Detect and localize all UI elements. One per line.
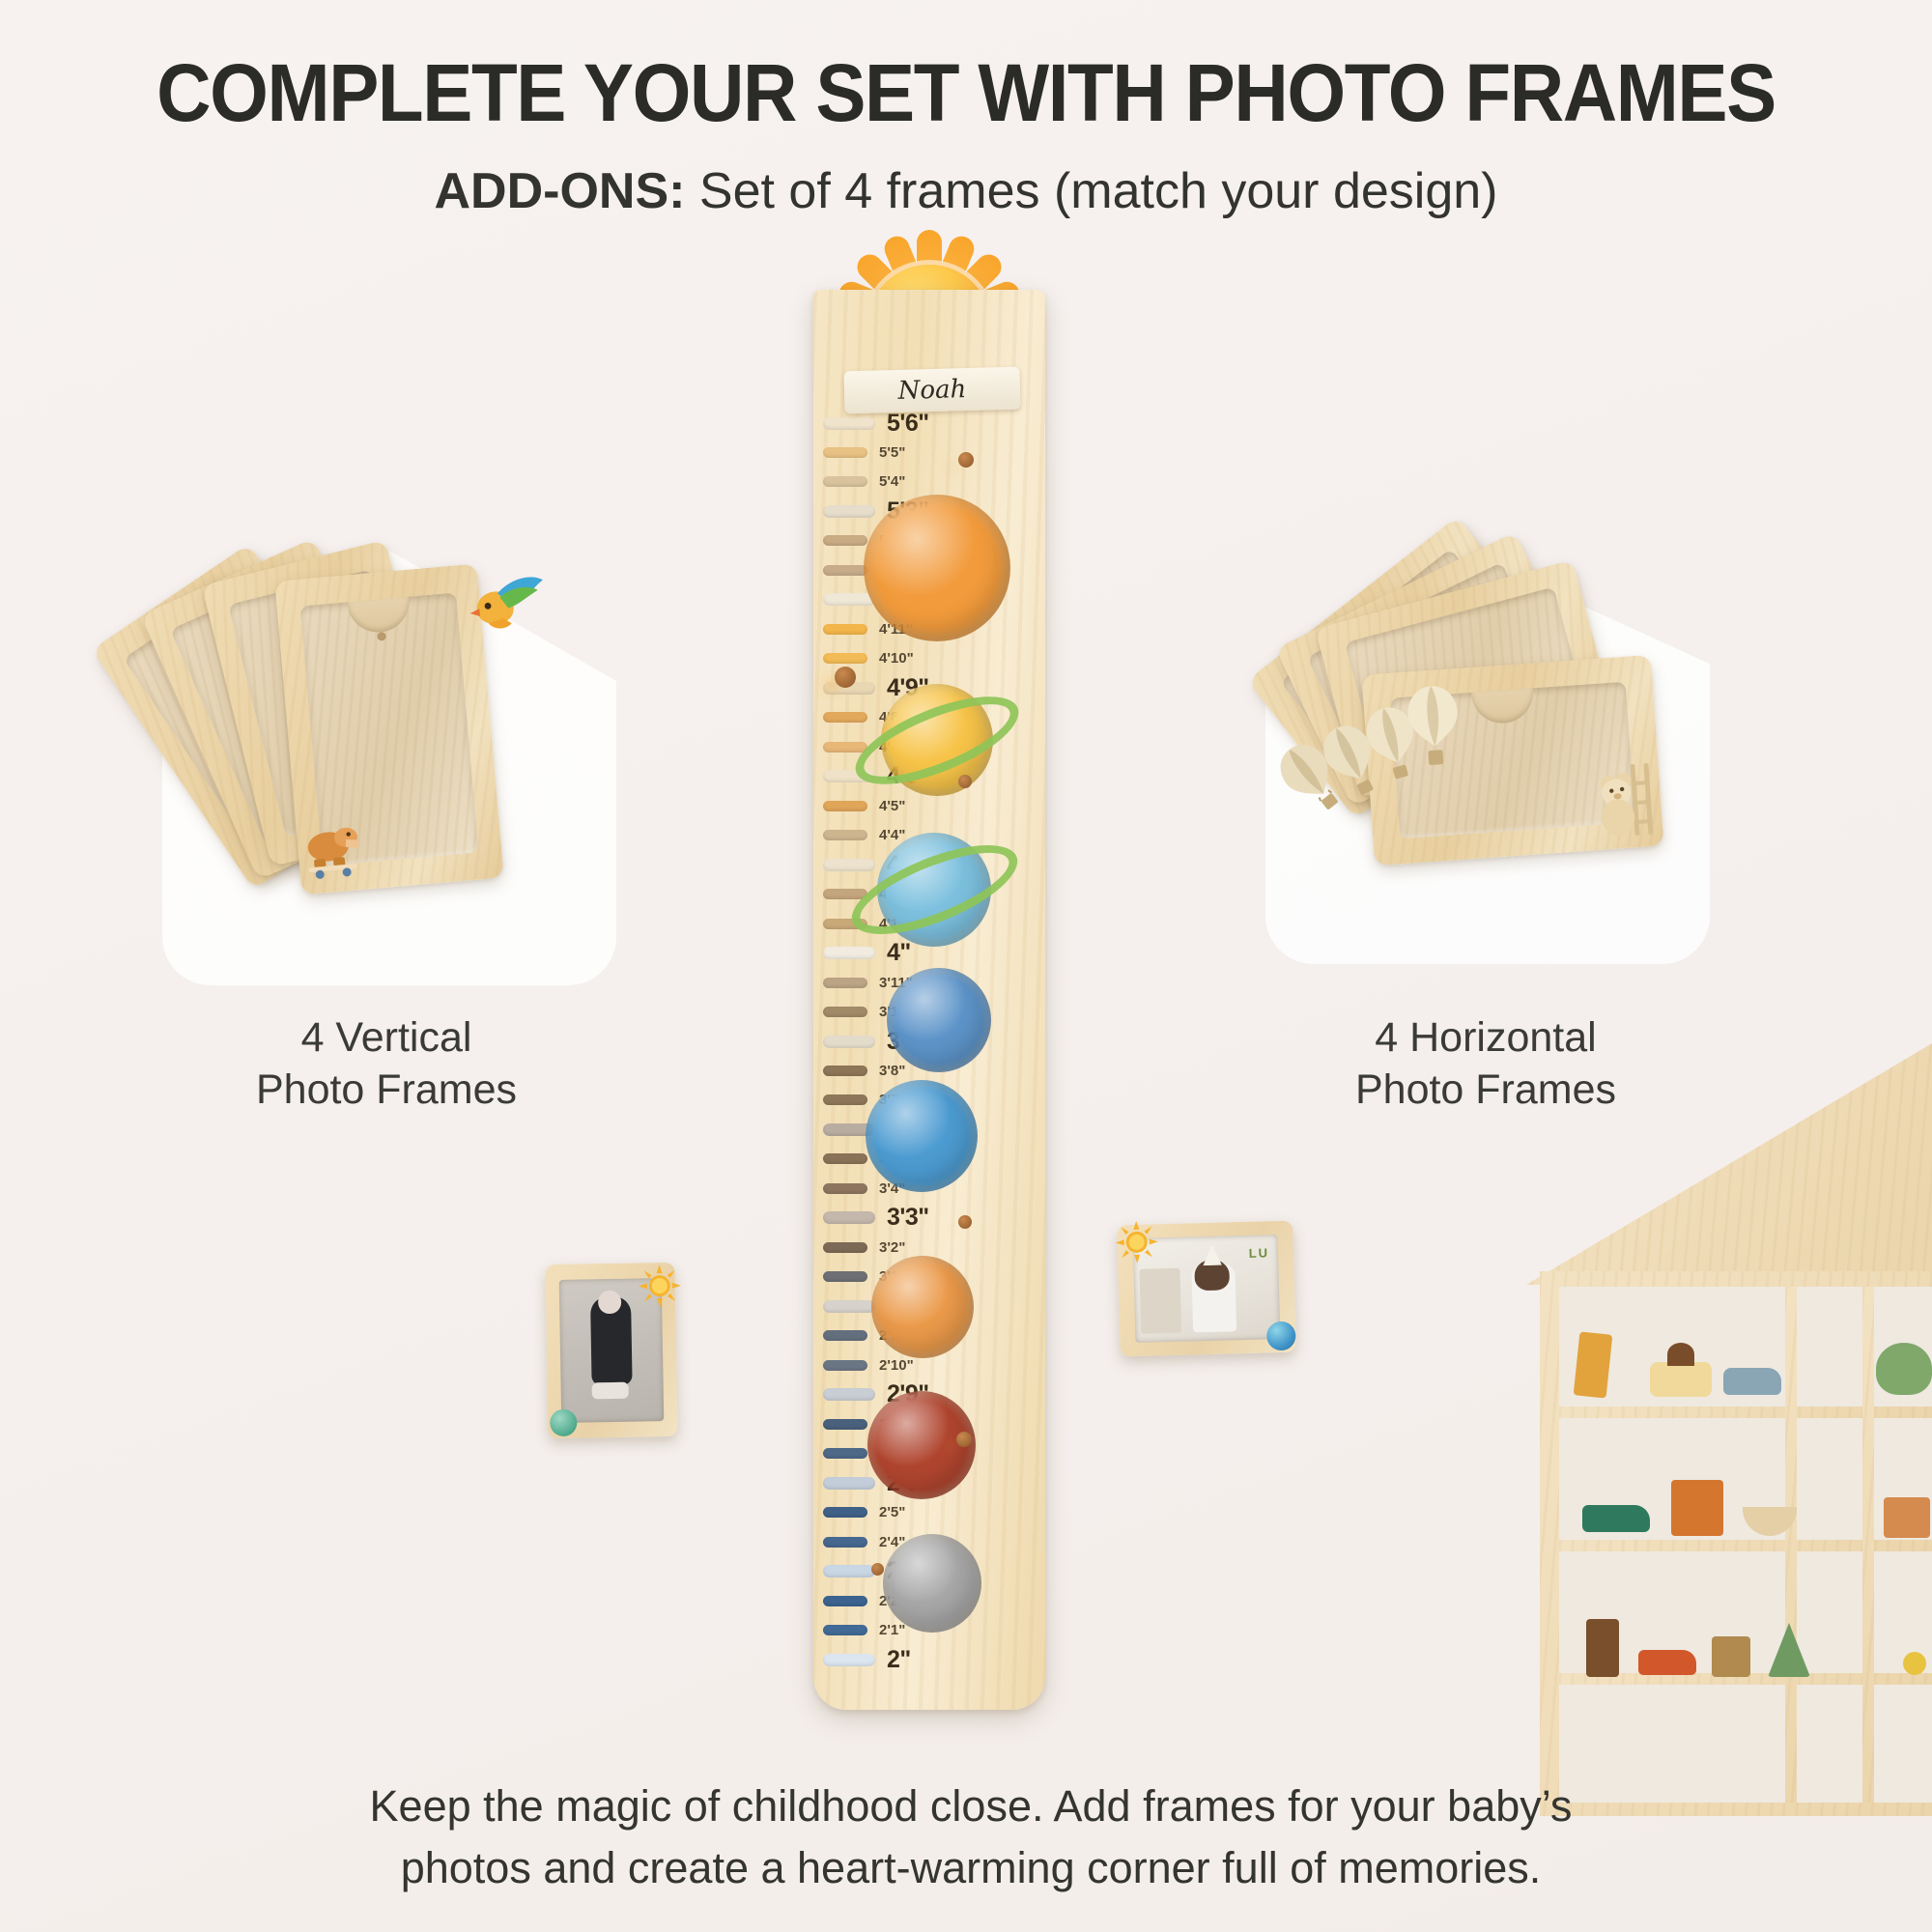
growth-chart-board[interactable]: 5'6"5'5"5'4"5'3"5'2"5'1"5"4'11"4'10"4'9"…	[813, 290, 1045, 1710]
ruler-tick-label: 5'5"	[879, 444, 905, 461]
comet-icon	[958, 1215, 972, 1229]
horizontal-toddler-photo-frame[interactable]: LU	[1117, 1221, 1295, 1357]
ruler-tick-label: 3'3"	[887, 1204, 929, 1232]
ruler-tick-mark	[823, 1036, 875, 1048]
ruler-tick-mark	[823, 1654, 875, 1666]
shelf-divider-v2	[1862, 1287, 1874, 1803]
ruler-tick-mark	[823, 859, 875, 871]
subtitle: ADD-ONS: Set of 4 frames (match your des…	[0, 162, 1932, 220]
shelf-roof	[1526, 1043, 1932, 1285]
toy-cube-orange	[1671, 1480, 1723, 1536]
ruler-tick-mark	[823, 593, 875, 606]
page-title: COMPLETE YOUR SET WITH PHOTO FRAMES	[68, 46, 1864, 140]
venus-planet	[871, 1256, 974, 1358]
ruler-tick-row: 5'6"	[813, 413, 1045, 433]
ruler-tick-mark	[823, 1419, 867, 1430]
shelf-divider-h1	[1559, 1406, 1932, 1418]
toy-block-terracotta	[1884, 1497, 1930, 1538]
toy-car-red	[1638, 1650, 1696, 1675]
ruler-tick-row: 2'5"	[813, 1503, 1045, 1522]
ruler-tick-label: 2'10"	[879, 1357, 914, 1374]
ruler-tick-mark	[823, 1007, 867, 1017]
toy-ball-brown	[1667, 1343, 1694, 1366]
ruler-tick-row: 5'5"	[813, 442, 1045, 462]
toy-tree-green	[1768, 1623, 1810, 1677]
ruler-tick-mark	[823, 1153, 867, 1164]
comet-icon	[871, 1563, 884, 1576]
ruler-tick-label: 5'6"	[887, 410, 929, 438]
ruler-tick-row: 3'3"	[813, 1208, 1045, 1228]
ruler-tick-mark	[823, 1596, 867, 1606]
ruler-tick-label: 2"	[887, 1646, 911, 1674]
ruler-tick-mark	[823, 1448, 867, 1459]
ruler-tick-mark	[823, 1625, 867, 1635]
toy-block-brown	[1586, 1619, 1619, 1677]
ruler-tick-row: 2'10"	[813, 1355, 1045, 1375]
neptune-planet	[887, 968, 991, 1072]
ruler-tick-mark	[823, 1211, 875, 1224]
footer-caption: Keep the magic of childhood close. Add f…	[203, 1776, 1739, 1899]
ruler-tick-mark	[823, 1094, 867, 1105]
ruler-tick-label: 2'5"	[879, 1504, 905, 1520]
comet-icon	[956, 1432, 972, 1447]
toy-stack-cream	[1650, 1362, 1712, 1397]
name-banner[interactable]: Noah	[843, 367, 1020, 414]
ruler-tick-mark	[823, 1507, 867, 1518]
ruler-tick-mark	[823, 505, 875, 518]
subtitle-rest: Set of 4 frames (match your design)	[685, 163, 1497, 219]
ruler-tick-label: 3'8"	[879, 1063, 905, 1079]
photo-letter-tiles: LU	[1249, 1245, 1270, 1261]
ruler-tick-mark	[823, 1360, 867, 1371]
ruler-tick-label: 4'4"	[879, 827, 905, 843]
ruler-tick-label: 3'2"	[879, 1239, 905, 1256]
jupiter-planet	[864, 495, 1010, 641]
ruler-tick-mark	[823, 1065, 867, 1076]
child-name: Noah	[897, 375, 966, 406]
hot-air-balloon-icon	[1402, 680, 1465, 771]
toy-plant-green	[1876, 1343, 1932, 1395]
ruler-tick-label: 2'1"	[879, 1622, 905, 1638]
earth-planet	[866, 1080, 978, 1192]
ruler-tick-row: 4'5"	[813, 796, 1045, 815]
ruler-tick-mark	[823, 1183, 867, 1194]
sun-icon	[1115, 1220, 1158, 1264]
ruler-tick-mark	[823, 1330, 867, 1341]
ruler-tick-mark	[823, 1242, 867, 1253]
toy-block-yellow	[1574, 1331, 1613, 1398]
product-marketing-image: COMPLETE YOUR SET WITH PHOTO FRAMES ADD-…	[0, 0, 1932, 1932]
ruler-tick-mark	[823, 712, 867, 723]
ruler-tick-label: 4"	[887, 939, 911, 967]
ruler-tick-label: 5'4"	[879, 473, 905, 490]
ruler-tick-row: 2"	[813, 1650, 1045, 1669]
ruler-tick-mark	[823, 565, 867, 576]
ruler-tick-mark	[823, 1477, 875, 1490]
parrot-icon	[455, 570, 549, 639]
vertical-frames-caption: 4 Vertical Photo Frames	[106, 1012, 667, 1117]
ruler-tick-mark	[823, 624, 867, 635]
ruler-tick-mark	[823, 1300, 875, 1313]
ruler-tick-mark	[823, 830, 867, 840]
ruler-tick-mark	[823, 447, 867, 458]
horizontal-frame-stack[interactable]	[1265, 558, 1710, 964]
green-planet-icon	[550, 1409, 577, 1436]
ruler-tick-mark	[823, 978, 867, 988]
ruler-tick-mark	[823, 742, 867, 753]
caption-line-1: 4 Vertical	[106, 1012, 667, 1065]
mercury-planet	[883, 1534, 981, 1633]
capybara-skateboard-icon	[297, 816, 369, 882]
comet-icon	[835, 667, 856, 688]
toy-car-green	[1582, 1505, 1650, 1532]
ruler-tick-label: 4'5"	[879, 798, 905, 814]
comet-icon	[958, 775, 972, 788]
teddy-bear-ladder-icon	[1587, 759, 1657, 842]
shelf-divider-h2	[1559, 1540, 1932, 1551]
vertical-baby-photo-frame[interactable]	[545, 1263, 677, 1438]
ruler-tick-mark	[823, 535, 867, 546]
ruler-tick-mark	[823, 476, 867, 487]
ruler-tick-mark	[823, 1271, 867, 1282]
caption-line-2: Photo Frames	[106, 1065, 667, 1117]
sun-icon	[638, 1264, 681, 1308]
ruler-tick-mark	[823, 653, 867, 664]
vertical-frame-stack[interactable]	[162, 551, 616, 985]
toy-shelf	[1526, 1043, 1932, 1835]
comet-icon	[958, 452, 974, 468]
ruler-tick-mark	[823, 947, 875, 959]
shelf-divider-v1	[1785, 1287, 1797, 1803]
toy-car-blue	[1723, 1368, 1781, 1395]
ruler-tick-row: 3'2"	[813, 1237, 1045, 1257]
ruler-tick-mark	[823, 1565, 875, 1577]
earth-planet-icon	[1266, 1321, 1296, 1351]
subtitle-bold: ADD-ONS:	[435, 163, 686, 219]
toy-ball-yellow	[1903, 1652, 1926, 1675]
ruler-tick-mark	[823, 417, 875, 430]
ruler-tick-mark	[823, 1537, 867, 1548]
ruler-tick-mark	[823, 1388, 875, 1401]
toy-block-olive	[1712, 1636, 1750, 1677]
ruler-tick-row: 5'4"	[813, 472, 1045, 492]
ruler-tick-row: 4'10"	[813, 649, 1045, 668]
ruler-tick-mark	[823, 801, 867, 811]
footer-line-2: photos and create a heart-warming corner…	[203, 1837, 1739, 1899]
footer-line-1: Keep the magic of childhood close. Add f…	[203, 1776, 1739, 1837]
ruler-tick-label: 4'10"	[879, 650, 914, 667]
